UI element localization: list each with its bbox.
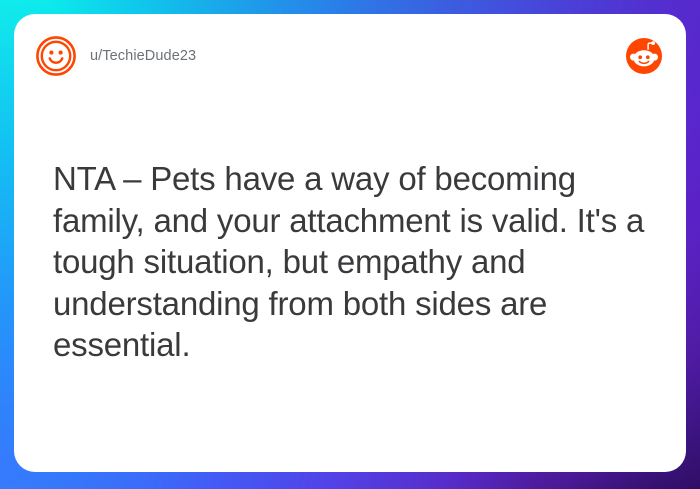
screenshot-root: u/TechieDude23	[0, 0, 700, 489]
smiley-face-avatar-icon	[35, 35, 77, 77]
card-header: u/TechieDude23	[14, 14, 686, 98]
username-label: u/TechieDude23	[90, 48, 196, 64]
reddit-comment-card: u/TechieDude23	[14, 14, 686, 472]
comment-text: NTA – Pets have a way of becoming family…	[53, 158, 656, 366]
reddit-snoo-logo-icon	[626, 38, 662, 74]
